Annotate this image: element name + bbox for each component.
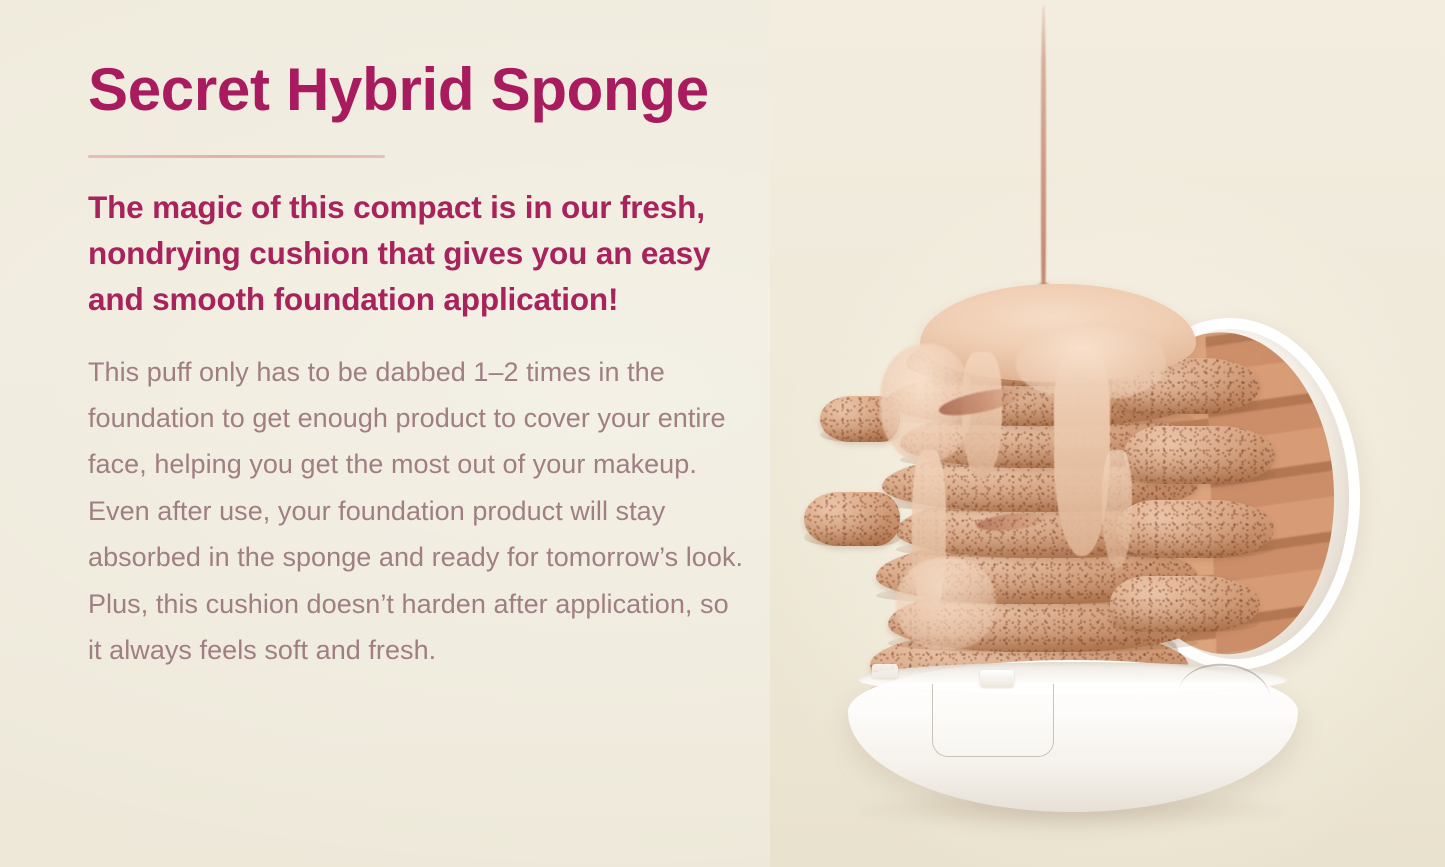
sponge-slice-wedge bbox=[804, 492, 900, 546]
compact-latch bbox=[932, 684, 1054, 757]
sponge-slice-right bbox=[1116, 500, 1274, 558]
body-paragraph: This puff only has to be dabbed 1–2 time… bbox=[88, 323, 748, 674]
foundation-glaze bbox=[896, 558, 996, 650]
sponge-slice-stack bbox=[866, 300, 1296, 720]
text-column: Secret Hybrid Sponge The magic of this c… bbox=[88, 58, 788, 674]
subheadline: The magic of this compact is in our fres… bbox=[88, 158, 728, 323]
banner-root: Secret Hybrid Sponge The magic of this c… bbox=[0, 0, 1445, 867]
foundation-stream-icon bbox=[1041, 6, 1046, 306]
compact-base bbox=[848, 660, 1298, 812]
sponge-slice-right bbox=[1110, 576, 1260, 632]
product-photo bbox=[770, 0, 1445, 867]
foundation-drip bbox=[1102, 450, 1132, 568]
compact-side-tab bbox=[872, 664, 898, 678]
foundation-glaze bbox=[1016, 326, 1166, 400]
compact-latch-tab bbox=[980, 670, 1014, 687]
sponge-slice-right bbox=[1124, 426, 1276, 484]
compact-base-body bbox=[848, 660, 1298, 812]
page-title: Secret Hybrid Sponge bbox=[88, 58, 788, 122]
title-divider bbox=[88, 155, 385, 158]
